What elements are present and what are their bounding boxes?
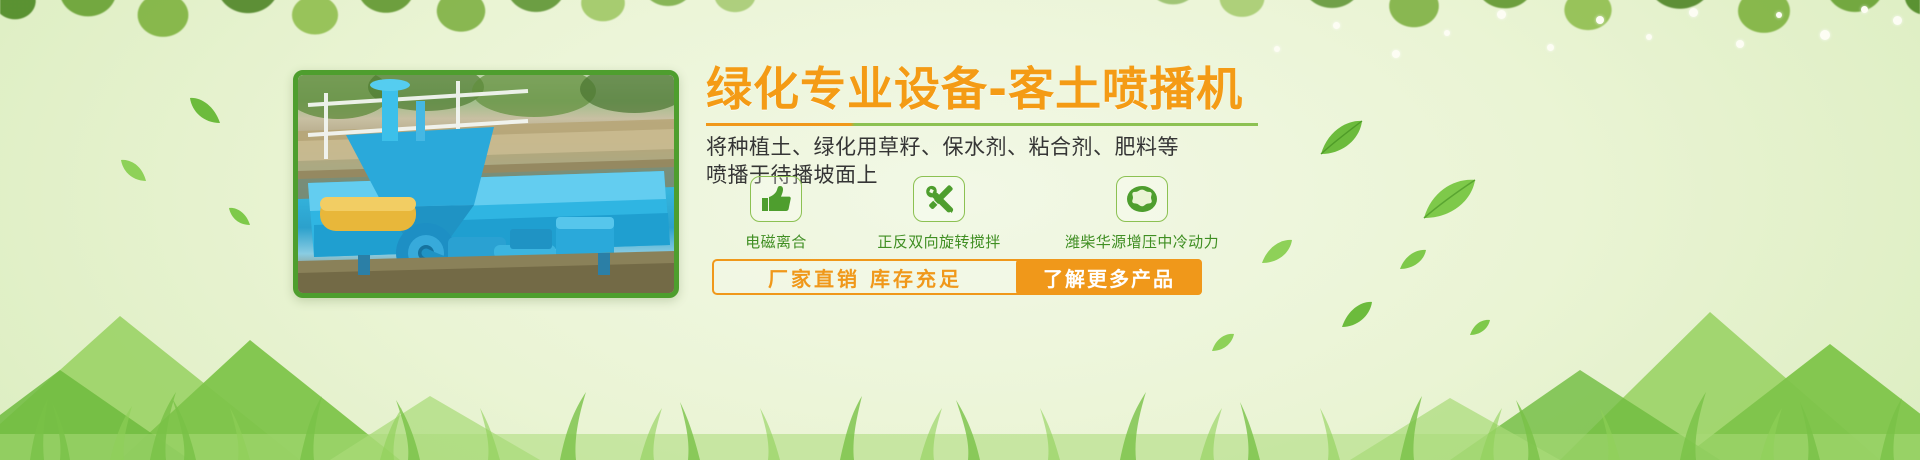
wrench-screwdriver-icon — [913, 176, 965, 222]
subtitle-line-1: 将种植土、绿化用草籽、保水剂、粘合剂、肥料等 — [706, 133, 1406, 161]
floating-leaf-icon — [1468, 318, 1492, 338]
feature-label: 正反双向旋转搅拌 — [846, 231, 1032, 252]
machine-illustration — [298, 75, 674, 293]
cta-slogan: 厂家直销 库存充足 — [714, 261, 1016, 293]
feature-label: 潍柴华源增压中冷动力 — [1032, 231, 1252, 252]
product-photo — [298, 75, 674, 293]
thumbs-up-icon — [750, 176, 802, 222]
engine-gear-icon — [1116, 176, 1168, 222]
floating-leaf-icon — [1420, 176, 1478, 222]
feature-item-bidirectional-mixing: 正反双向旋转搅拌 — [846, 176, 1032, 252]
cta-bar: 厂家直销 库存充足 了解更多产品 — [712, 259, 1202, 295]
floating-leaf-icon — [226, 206, 252, 228]
product-photo-frame — [293, 70, 679, 298]
floating-leaf-icon — [186, 96, 222, 126]
feature-label: 电磁离合 — [706, 231, 846, 252]
title-divider — [706, 123, 1258, 126]
page-title: 绿化专业设备-客土喷播机 — [706, 60, 1406, 118]
floating-leaf-icon — [118, 158, 148, 184]
feature-item-electromagnetic-clutch: 电磁离合 — [706, 176, 846, 252]
grass-foreground-decoration — [0, 340, 1920, 460]
learn-more-button[interactable]: 了解更多产品 — [1016, 259, 1202, 295]
feature-list: 电磁离合 正反双向旋转搅拌 — [706, 176, 1252, 252]
feature-item-weichai-power: 潍柴华源增压中冷动力 — [1032, 176, 1252, 252]
promo-banner: 绿化专业设备-客土喷播机 将种植土、绿化用草籽、保水剂、粘合剂、肥料等 喷播于待… — [0, 0, 1920, 460]
floating-leaf-icon — [1210, 332, 1236, 354]
